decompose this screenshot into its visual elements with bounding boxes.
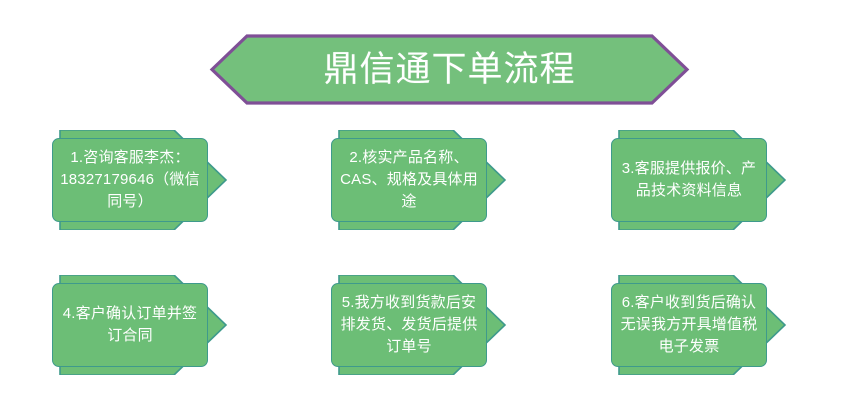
title-banner: 鼎信通下单流程 <box>209 33 690 106</box>
step-5-box: 5.我方收到货款后安排发货、发货后提供订单号 <box>331 283 487 367</box>
step-3-label: 3.客服提供报价、产品技术资料信息 <box>618 158 760 202</box>
step-6[interactable]: 6.客户收到货后确认无误我方开具增值税电子发票 <box>611 275 789 375</box>
page-title: 鼎信通下单流程 <box>209 33 690 106</box>
step-2-label: 2.核实产品名称、CAS、规格及具体用途 <box>338 147 480 214</box>
step-6-label: 6.客户收到货后确认无误我方开具增值税电子发票 <box>618 292 760 359</box>
step-5-label: 5.我方收到货款后安排发货、发货后提供订单号 <box>338 292 480 359</box>
flowchart-canvas: 鼎信通下单流程 1.咨询客服李杰：18327179646（微信同号） 2.核实产… <box>0 0 865 417</box>
step-2-box: 2.核实产品名称、CAS、规格及具体用途 <box>331 138 487 222</box>
step-3[interactable]: 3.客服提供报价、产品技术资料信息 <box>611 130 789 230</box>
step-3-box: 3.客服提供报价、产品技术资料信息 <box>611 138 767 222</box>
step-6-box: 6.客户收到货后确认无误我方开具增值税电子发票 <box>611 283 767 367</box>
step-1-label: 1.咨询客服李杰：18327179646（微信同号） <box>59 147 201 214</box>
step-1-box: 1.咨询客服李杰：18327179646（微信同号） <box>52 138 208 222</box>
step-4-box: 4.客户确认订单并签订合同 <box>52 283 208 367</box>
step-2[interactable]: 2.核实产品名称、CAS、规格及具体用途 <box>331 130 509 230</box>
step-5[interactable]: 5.我方收到货款后安排发货、发货后提供订单号 <box>331 275 509 375</box>
step-1[interactable]: 1.咨询客服李杰：18327179646（微信同号） <box>52 130 230 230</box>
step-4-label: 4.客户确认订单并签订合同 <box>59 303 201 347</box>
step-4[interactable]: 4.客户确认订单并签订合同 <box>52 275 230 375</box>
